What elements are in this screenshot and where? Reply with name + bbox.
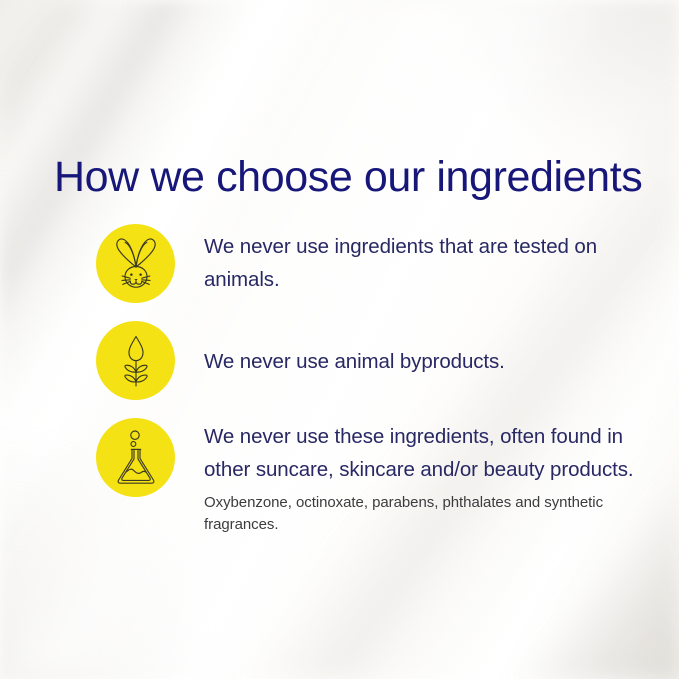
erlenmeyer-flask-icon: [114, 430, 158, 486]
list-item-label: We never use ingredients that are tested…: [204, 230, 634, 296]
page-title: How we choose our ingredients: [54, 150, 642, 204]
icon-badge-flask: [96, 418, 175, 497]
list-item: We never use ingredients that are tested…: [96, 224, 636, 321]
icon-badge-plant: [96, 321, 175, 400]
list-item-label: We never use these ingredients, often fo…: [204, 420, 634, 486]
ingredient-promise-panel: How we choose our ingredients: [0, 0, 679, 679]
promise-list: We never use ingredients that are tested…: [96, 224, 636, 578]
list-item-text-block: We never use ingredients that are tested…: [204, 230, 634, 296]
list-item-label: We never use animal byproducts.: [204, 345, 634, 378]
list-item-subtext: Oxybenzone, octinoxate, parabens, phthal…: [204, 492, 634, 536]
plant-leaf-icon: [113, 334, 159, 388]
list-item: We never use animal byproducts.: [96, 321, 636, 418]
icon-badge-bunny: [96, 224, 175, 303]
list-item-text-block: We never use animal byproducts.: [204, 345, 634, 378]
list-item-text-block: We never use these ingredients, often fo…: [204, 420, 634, 536]
bunny-heart-ears-icon: [111, 236, 161, 292]
list-item: We never use these ingredients, often fo…: [96, 418, 636, 578]
